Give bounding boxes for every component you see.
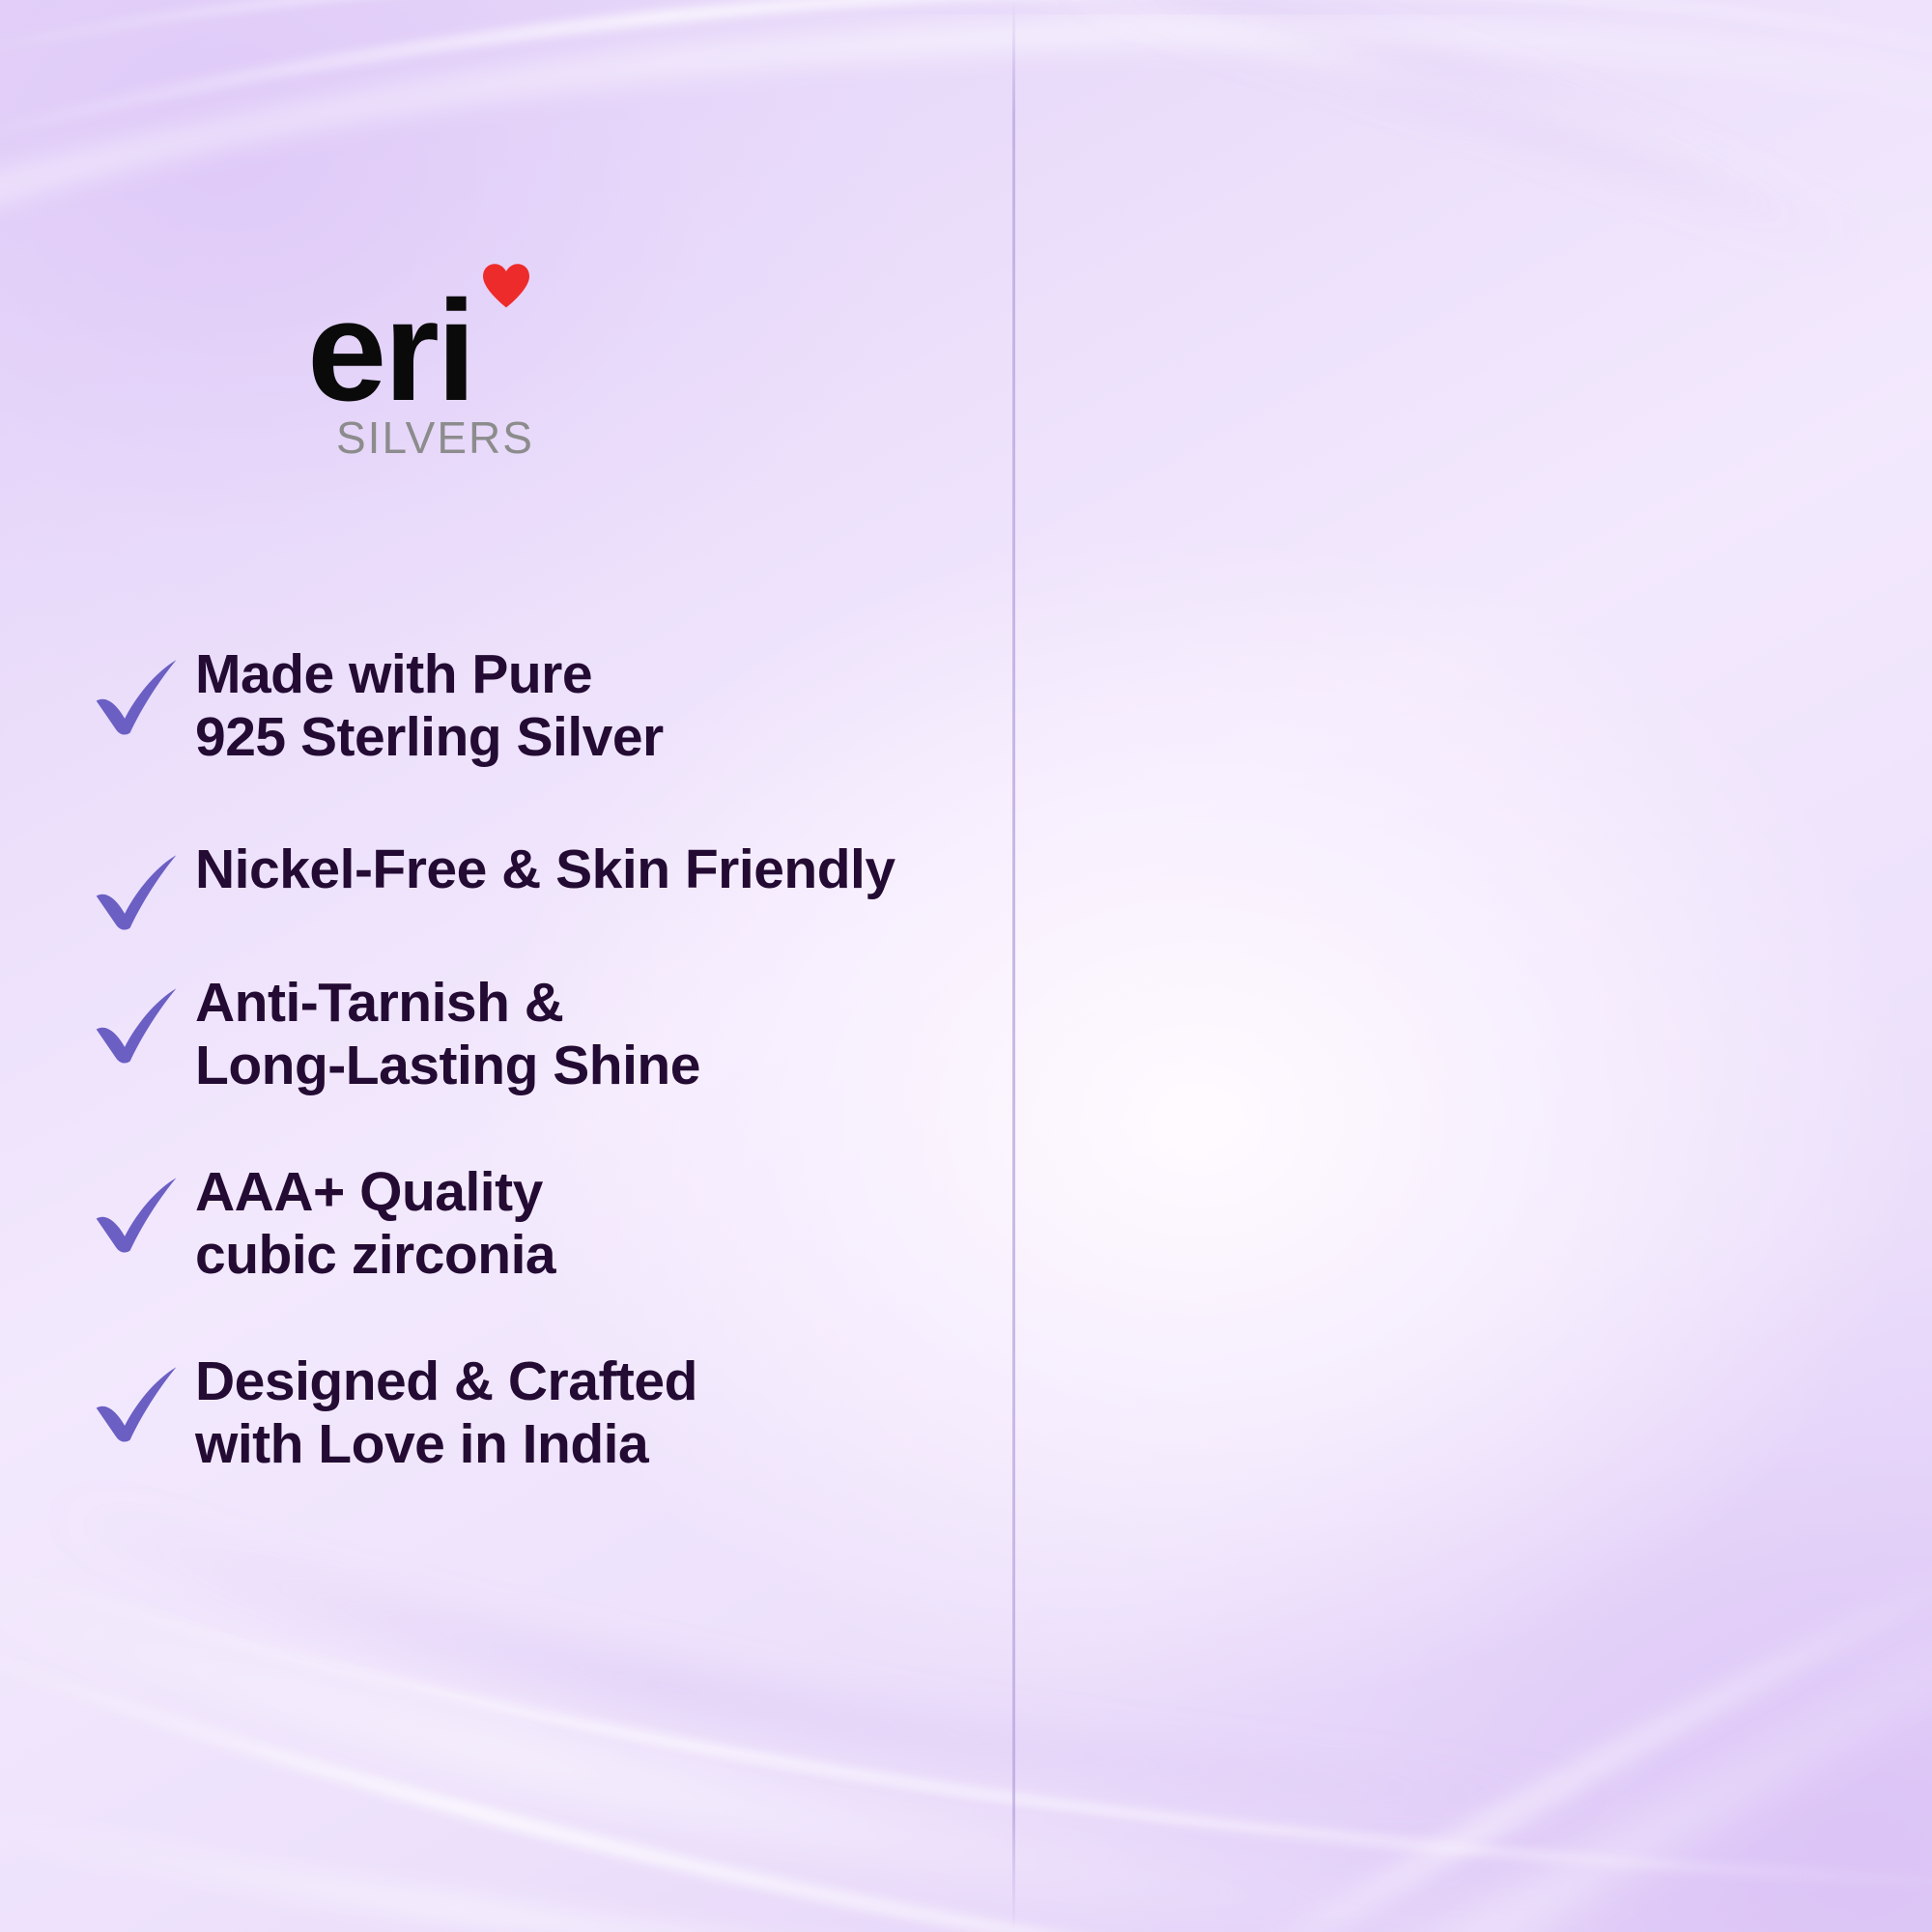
- comparison-infographic: eri SILVERS Made with Pure 925 Sterling …: [0, 0, 1932, 1932]
- check-icon: [93, 651, 182, 740]
- list-item-label: Anti-Tarnish & Long-Lasting Shine: [195, 966, 700, 1097]
- brand-column: eri SILVERS Made with Pure 925 Sterling …: [0, 0, 1012, 1932]
- list-item: Designed & Crafted with Love in India: [93, 1345, 697, 1476]
- check-icon: [93, 1169, 182, 1258]
- brand-logo: eri SILVERS: [307, 280, 616, 464]
- brand-logo-subtitle: SILVERS: [336, 412, 534, 464]
- list-item: AAA+ Quality cubic zirconia: [93, 1155, 555, 1287]
- list-item: Made with Pure 925 Sterling Silver: [93, 638, 664, 769]
- list-item-label: Made with Pure 925 Sterling Silver: [195, 638, 664, 769]
- brand-logo-wordmark: eri: [307, 280, 616, 425]
- list-item-label: Nickel-Free & Skin Friendly: [195, 833, 895, 901]
- check-icon: [93, 980, 182, 1068]
- list-item-label: AAA+ Quality cubic zirconia: [195, 1155, 555, 1287]
- list-item: Nickel-Free & Skin Friendly: [93, 833, 895, 935]
- check-icon: [93, 1358, 182, 1447]
- list-item: Anti-Tarnish & Long-Lasting Shine: [93, 966, 700, 1097]
- check-icon: [93, 846, 182, 935]
- heart-icon: [481, 263, 531, 309]
- list-item-label: Designed & Crafted with Love in India: [195, 1345, 697, 1476]
- competitor-column: Other Brands Made with Cheap Alloy/Brass…: [1015, 0, 1932, 1932]
